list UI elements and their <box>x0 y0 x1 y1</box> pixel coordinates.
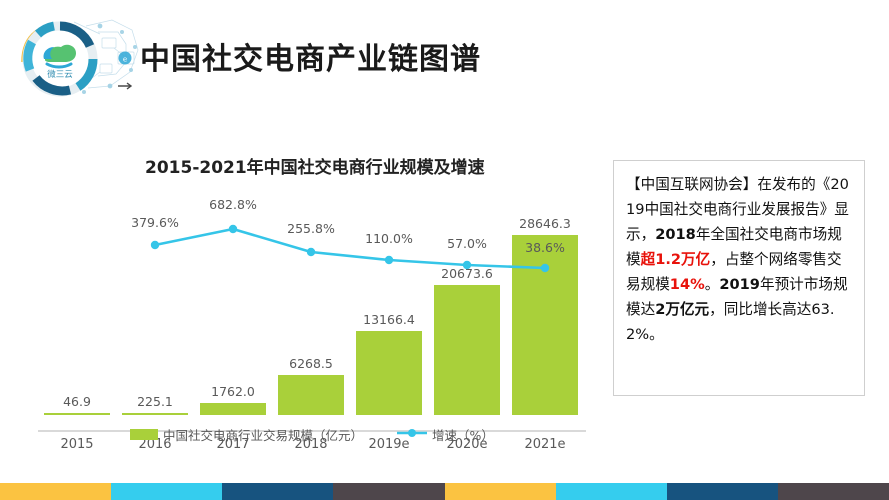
note-highlight-share: 14% <box>670 276 705 293</box>
bar-value-label: 13166.4 <box>350 312 428 327</box>
bottom-bar-segment <box>333 483 444 500</box>
note-line-6b: 。 <box>705 276 720 293</box>
chart-plot-area: 46.9 225.1 1762.0 6268.5 13166.4 20673.6 <box>20 185 600 415</box>
legend-swatch-line-icon <box>397 426 427 444</box>
note-panel: 【中国互联网协会】在发布的《2019中国社交电商行业发展报告》显示，2018年全… <box>613 160 865 396</box>
bar-rect <box>122 413 188 415</box>
note-line-5b: ，占整个网 <box>710 251 783 268</box>
bottom-bar-segment <box>445 483 556 500</box>
legend-item-line[interactable]: 增速（%） <box>397 425 494 444</box>
line-value-label: 379.6% <box>116 215 194 230</box>
bar-value-label: 28646.3 <box>506 216 584 231</box>
bottom-bar-segment <box>556 483 667 500</box>
bar-value-label: 6268.5 <box>272 356 350 371</box>
line-value-label: 57.0% <box>428 236 506 251</box>
page-title: 中国社交电商产业链图谱 <box>140 34 481 78</box>
bar-rect <box>356 331 422 415</box>
note-highlight-scale: 超1.2万亿 <box>641 251 711 268</box>
bar-column: 20673.6 <box>428 170 506 415</box>
bar-column: 28646.3 <box>506 170 584 415</box>
logo-text: 微三云 <box>47 69 73 80</box>
x-axis-label: 2015 <box>38 437 116 452</box>
bar-value-label: 1762.0 <box>194 384 272 399</box>
bar-value-label: 20673.6 <box>428 266 506 281</box>
cloud-tech-logo-icon: e 微三云 <box>14 12 146 104</box>
page-header: e 微三云 中国社交电商产业链图谱 <box>0 0 889 110</box>
chart-container: 2015-2021年中国社交电商行业规模及增速 46.9 225.1 1762.… <box>20 140 600 460</box>
legend-label-line: 增速（%） <box>432 425 494 444</box>
note-line-1: 【中国互联网协会】在发 <box>626 176 787 193</box>
bar-column: 13166.4 <box>350 170 428 415</box>
bar-value-label: 46.9 <box>38 394 116 409</box>
line-value-label: 682.8% <box>194 197 272 212</box>
svg-text:e: e <box>123 56 127 64</box>
note-year-2018: 2018 <box>655 226 696 243</box>
bottom-color-bar <box>0 483 889 500</box>
bottom-bar-segment <box>667 483 778 500</box>
chart-legend: 中国社交电商行业交易规模（亿元） 增速（%） <box>130 425 494 444</box>
line-value-label: 38.6% <box>506 240 584 255</box>
bar-column: 6268.5 <box>272 170 350 415</box>
bar-column: 225.1 <box>116 170 194 415</box>
x-axis-label: 2021e <box>506 437 584 452</box>
note-line-4: 年全国社交电商市场 <box>696 226 827 243</box>
bottom-bar-segment <box>778 483 889 500</box>
bar-rect <box>44 413 110 415</box>
legend-item-bar[interactable]: 中国社交电商行业交易规模（亿元） <box>130 425 363 444</box>
bar-rect <box>434 285 500 415</box>
bar-column: 46.9 <box>38 170 116 415</box>
note-forecast-scale: 2万 <box>655 301 680 318</box>
line-value-label: 110.0% <box>350 231 428 246</box>
bottom-bar-segment <box>222 483 333 500</box>
legend-label-bar: 中国社交电商行业交易规模（亿元） <box>163 425 363 444</box>
bottom-bar-segment <box>111 483 222 500</box>
bottom-bar-segment <box>0 483 111 500</box>
bar-rect <box>200 403 266 415</box>
line-value-label: 255.8% <box>272 221 350 236</box>
legend-swatch-bar-icon <box>130 429 158 440</box>
note-text: 【中国互联网协会】在发布的《2019中国社交电商行业发展报告》显示，2018年全… <box>626 172 852 347</box>
bar-value-label: 225.1 <box>116 394 194 409</box>
bar-rect <box>512 235 578 415</box>
note-forecast-unit: 亿元 <box>680 301 709 318</box>
brand-logo: e 微三云 <box>14 12 146 104</box>
bar-rect <box>278 375 344 415</box>
note-year-2019: 2019 <box>719 276 760 293</box>
